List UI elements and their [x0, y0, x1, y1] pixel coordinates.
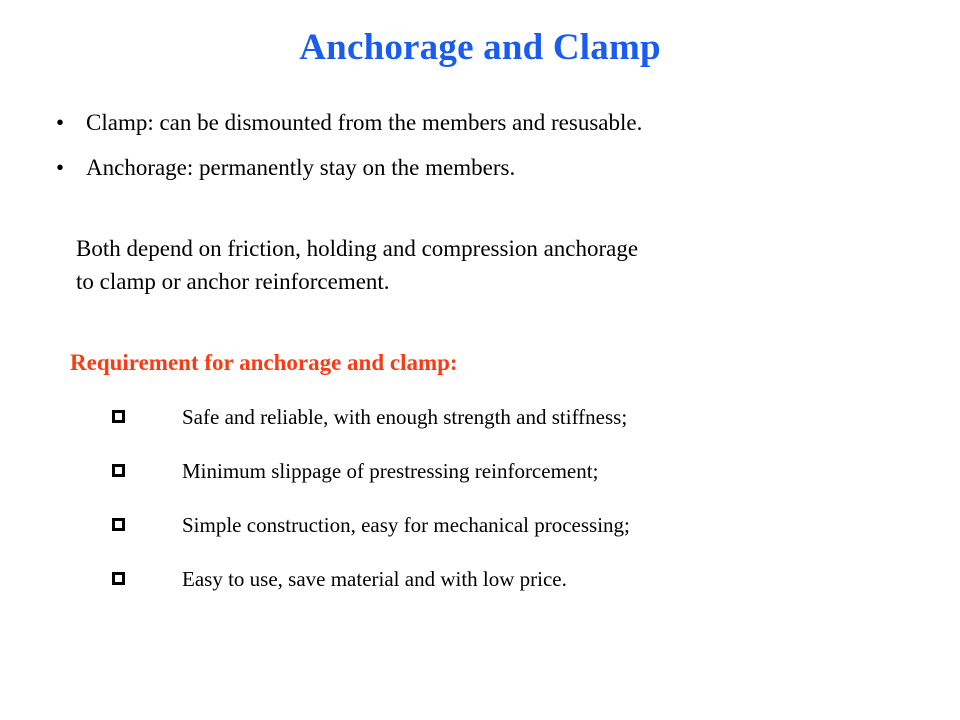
list-item-label: Minimum slippage of prestressing reinfor… — [182, 458, 932, 485]
square-bullet-cell — [112, 512, 182, 531]
square-bullet-cell — [112, 566, 182, 585]
list-item-label: Safe and reliable, with enough strength … — [182, 404, 932, 431]
round-bullet-icon: • — [52, 153, 86, 182]
square-bullet-cell — [112, 458, 182, 477]
list-item-label: Clamp: can be dismounted from the member… — [86, 108, 932, 137]
list-item: • Clamp: can be dismounted from the memb… — [52, 108, 932, 137]
list-item: Minimum slippage of prestressing reinfor… — [112, 458, 932, 485]
square-outline-icon — [112, 464, 125, 477]
list-item-label: Simple construction, easy for mechanical… — [182, 512, 932, 539]
square-outline-icon — [112, 410, 125, 423]
summary-paragraph: Both depend on friction, holding and com… — [76, 232, 896, 298]
requirement-heading: Requirement for anchorage and clamp: — [70, 348, 458, 377]
list-item: Easy to use, save material and with low … — [112, 566, 932, 593]
intro-bullet-list: • Clamp: can be dismounted from the memb… — [52, 108, 932, 198]
page-title: Anchorage and Clamp — [0, 26, 960, 70]
list-item: Safe and reliable, with enough strength … — [112, 404, 932, 431]
paragraph-line: Both depend on friction, holding and com… — [76, 232, 896, 265]
square-outline-icon — [112, 572, 125, 585]
list-item-label: Anchorage: permanently stay on the membe… — [86, 153, 932, 182]
slide-canvas: Anchorage and Clamp • Clamp: can be dism… — [0, 0, 960, 720]
list-item: • Anchorage: permanently stay on the mem… — [52, 153, 932, 182]
list-item: Simple construction, easy for mechanical… — [112, 512, 932, 539]
paragraph-line: to clamp or anchor reinforcement. — [76, 265, 896, 298]
list-item-label: Easy to use, save material and with low … — [182, 566, 932, 593]
round-bullet-icon: • — [52, 108, 86, 137]
square-bullet-cell — [112, 404, 182, 423]
requirement-bullet-list: Safe and reliable, with enough strength … — [112, 404, 932, 620]
square-outline-icon — [112, 518, 125, 531]
